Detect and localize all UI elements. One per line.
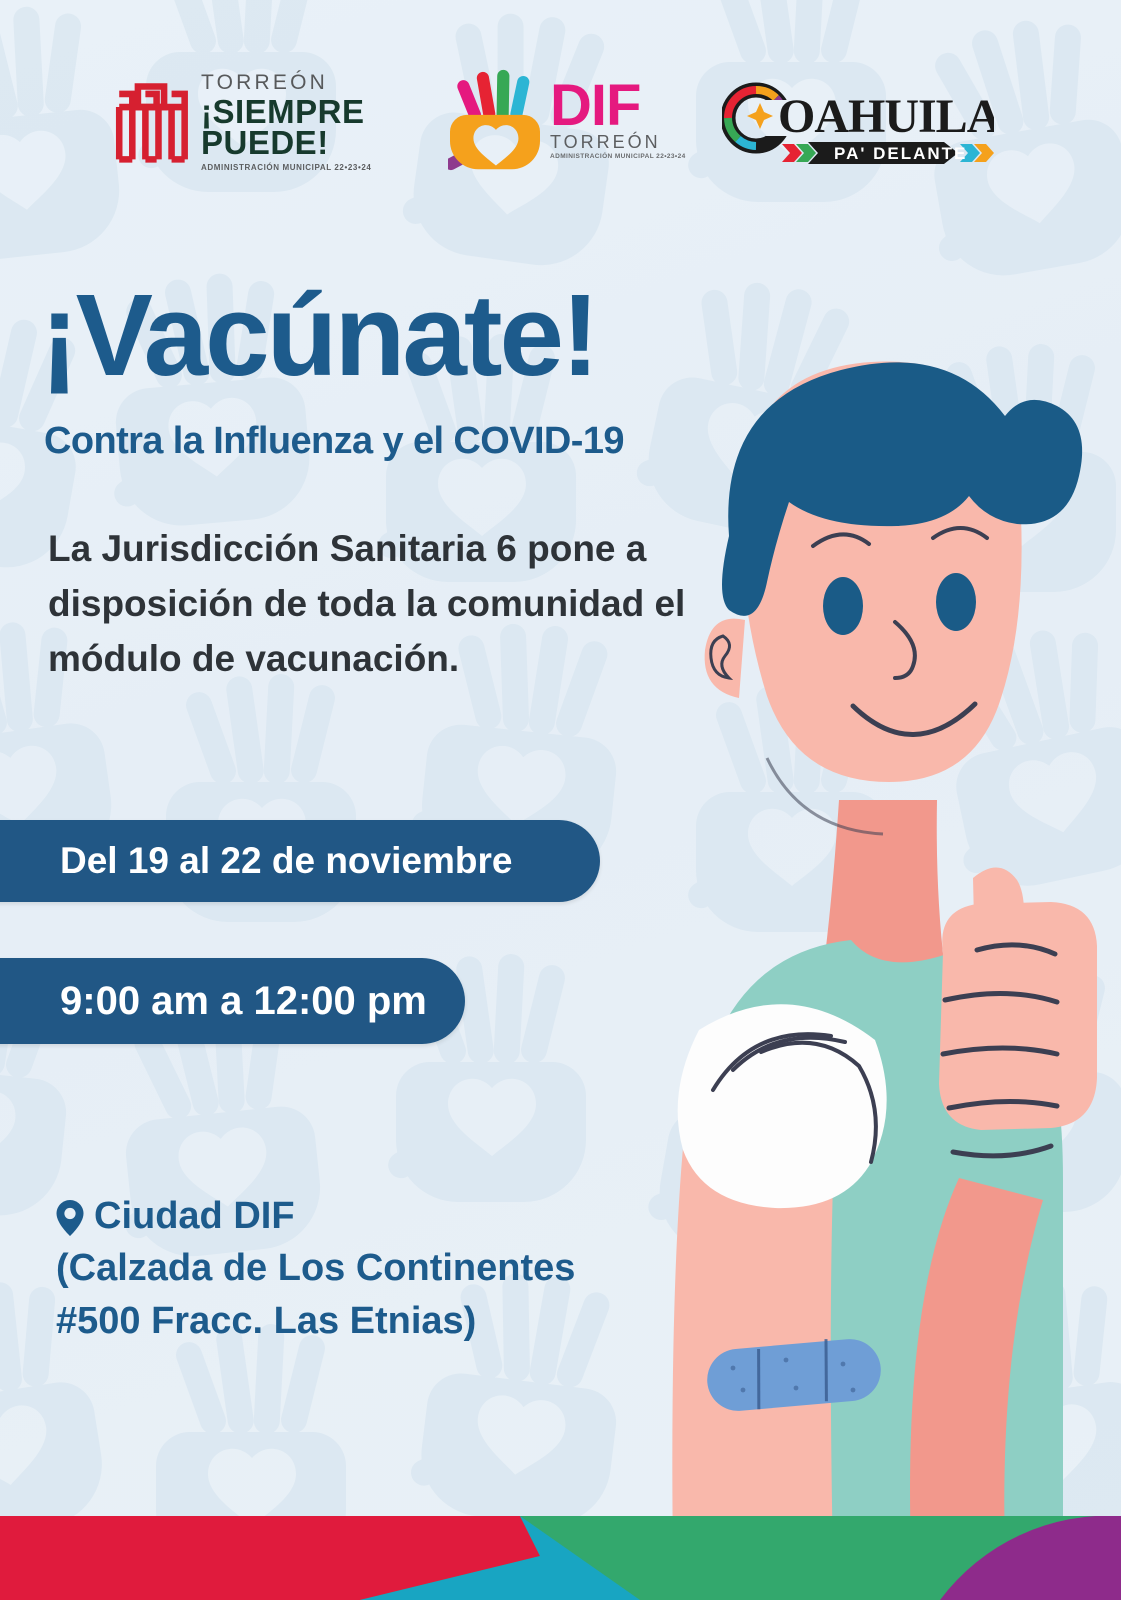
thumbs-up-hand (939, 867, 1097, 1155)
location-pin-icon (56, 1198, 84, 1234)
illustration-person (581, 330, 1121, 1550)
torreon-logo-line2: ¡SIEMPRE (201, 96, 371, 127)
page-title: ¡Vacúnate! (40, 282, 597, 389)
date-badge: Del 19 al 22 de noviembre (0, 820, 600, 902)
address-line-2: (Calzada de Los Continentes (56, 1242, 656, 1294)
head (705, 362, 1083, 834)
time-badge-label: 9:00 am a 12:00 pm (0, 979, 427, 1024)
logo-dif: DIF TORREÓN ADMINISTRACIÓN MUNICIPAL 22•… (448, 68, 686, 173)
address-venue: Ciudad DIF (94, 1190, 295, 1242)
coahuila-mark: OAHUILA PA' DELANTE (722, 76, 994, 166)
torreon-logo-line3: PUEDE! (201, 127, 371, 158)
torreon-logo-subtitle: ADMINISTRACIÓN MUNICIPAL 22•23•24 (201, 164, 371, 172)
dif-logo-subtitle: ADMINISTRACIÓN MUNICIPAL 22•23•24 (550, 154, 686, 161)
logo-row: TORREÓN ¡SIEMPRE PUEDE! ADMINISTRACIÓN M… (0, 62, 1121, 182)
address-block: Ciudad DIF (Calzada de Los Continentes #… (56, 1190, 656, 1347)
dif-logo-main: DIF (550, 81, 686, 130)
dif-logo-city: TORREÓN (550, 133, 686, 151)
date-badge-label: Del 19 al 22 de noviembre (0, 840, 512, 882)
dif-hand-heart-icon (448, 68, 542, 173)
page-subtitle: Contra la Influenza y el COVID-19 (44, 420, 624, 463)
torreon-logo-line1: TORREÓN (201, 72, 371, 93)
torreon-shield-icon (113, 79, 189, 165)
svg-text:OAHUILA: OAHUILA (778, 90, 994, 143)
time-badge: 9:00 am a 12:00 pm (0, 958, 465, 1044)
svg-text:PA' DELANTE: PA' DELANTE (834, 144, 967, 163)
vaccination-poster: TORREÓN ¡SIEMPRE PUEDE! ADMINISTRACIÓN M… (0, 0, 1121, 1600)
address-line-3: #500 Fracc. Las Etnias) (56, 1295, 656, 1347)
brand-color-strip (0, 1516, 1121, 1600)
logo-coahuila: OAHUILA PA' DELANTE (722, 76, 994, 166)
logo-torreon: TORREÓN ¡SIEMPRE PUEDE! ADMINISTRACIÓN M… (113, 72, 371, 172)
body-paragraph: La Jurisdicción Sanitaria 6 pone a dispo… (48, 522, 688, 686)
